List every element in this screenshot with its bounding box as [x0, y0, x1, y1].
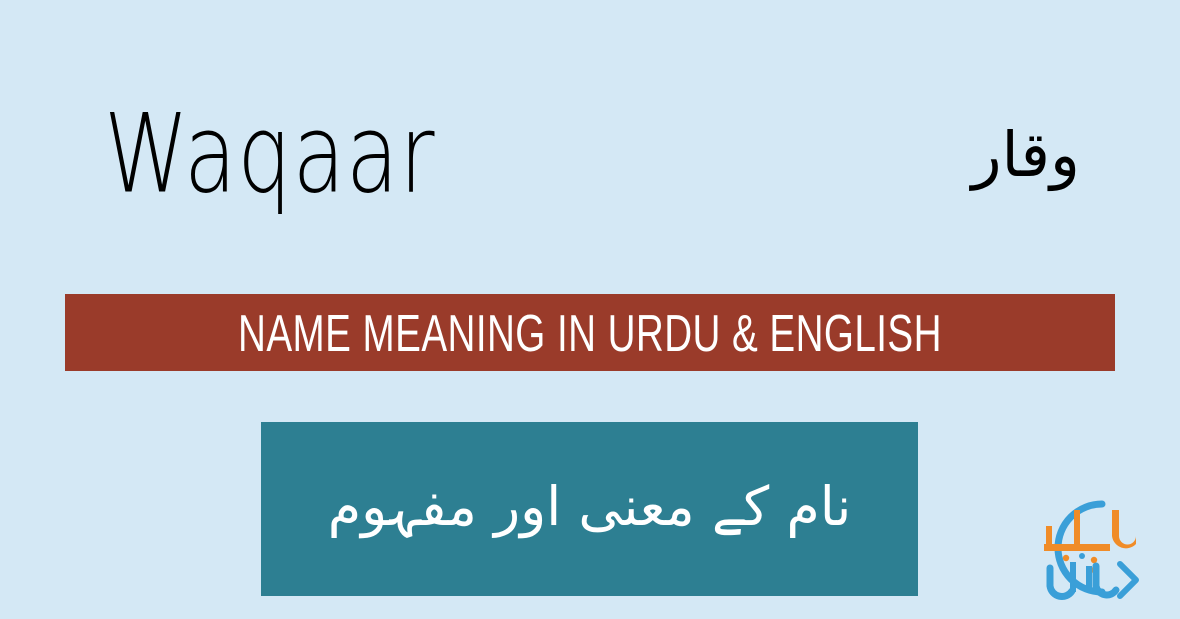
banner-bar: NAME MEANING IN URDU & ENGLISH: [65, 294, 1115, 371]
urdu-name-heading: وقار: [972, 95, 1080, 215]
latin-name-heading: Waqaar: [104, 84, 435, 226]
name-meaning-card: Waqaar وقار NAME MEANING IN URDU & ENGLI…: [0, 0, 1180, 619]
banner-label: NAME MEANING IN URDU & ENGLISH: [238, 307, 942, 359]
hamariweb-logo[interactable]: [1008, 492, 1148, 604]
urdu-caption-box: نام کے معنی اور مفہوم: [261, 422, 918, 596]
urdu-caption-label: نام کے معنی اور مفہوم: [328, 476, 852, 538]
name-header-row: Waqaar وقار: [0, 95, 1180, 215]
